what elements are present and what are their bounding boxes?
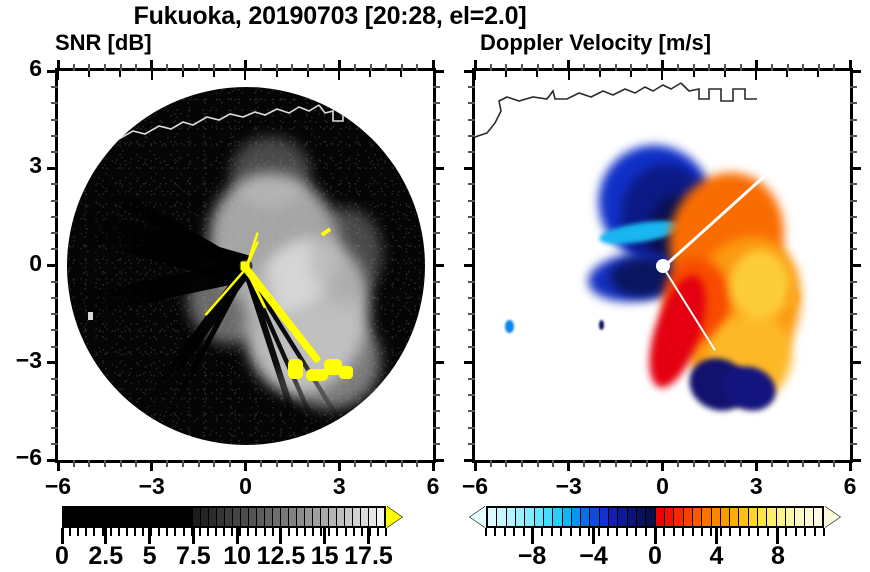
x-axis-tick xyxy=(213,460,215,467)
y-axis-tick-right xyxy=(433,394,440,396)
colorbar-cell xyxy=(144,508,152,526)
x-axis-tick-top xyxy=(755,60,758,71)
x-axis-tick-label: −3 xyxy=(539,473,599,500)
colorbar-minor-tick xyxy=(729,528,731,536)
x-axis-tick xyxy=(401,460,403,467)
colorbar-cell xyxy=(353,508,361,526)
colorbar-minor-tick xyxy=(118,528,120,536)
x-axis-tick-top xyxy=(818,64,820,71)
x-axis-tick xyxy=(802,460,804,467)
colorbar-cell xyxy=(337,508,345,526)
y-axis-tick-right xyxy=(433,151,440,153)
y-axis-tick-right xyxy=(850,378,857,380)
colorbar-minor-tick xyxy=(795,528,797,536)
colorbar-cell xyxy=(112,508,120,526)
x-axis-tick xyxy=(135,460,137,467)
y-axis-tick xyxy=(468,183,475,185)
y-axis-tick xyxy=(464,361,475,364)
colorbar-cell xyxy=(525,508,534,526)
y-axis-tick xyxy=(51,410,58,412)
colorbar-cell xyxy=(265,508,273,526)
y-axis-tick-right xyxy=(850,346,857,348)
x-axis-tick xyxy=(338,460,341,471)
doppler-colorbar[interactable]: −8−4048 xyxy=(470,506,840,528)
y-axis-tick-right xyxy=(850,361,861,364)
colorbar-minor-tick xyxy=(570,528,572,536)
colorbar-cell xyxy=(646,508,655,526)
x-axis-tick xyxy=(385,460,387,467)
colorbar-cell xyxy=(535,508,544,526)
colorbar-cell xyxy=(120,508,128,526)
x-axis-tick-label: 3 xyxy=(309,473,369,500)
x-axis-tick-label: −6 xyxy=(445,473,505,500)
colorbar-minor-tick xyxy=(377,528,379,536)
y-axis-tick-right xyxy=(433,361,444,364)
x-axis-tick xyxy=(57,460,60,471)
colorbar-cell xyxy=(289,508,297,526)
x-axis-tick xyxy=(693,460,695,467)
colorbar-minor-tick xyxy=(166,528,168,536)
x-axis-tick xyxy=(88,460,90,467)
x-axis-tick xyxy=(787,460,789,467)
y-axis-tick-right xyxy=(850,119,857,121)
colorbar-tick-label: 4 xyxy=(710,542,724,571)
colorbar-cell xyxy=(516,508,525,526)
colorbar-minor-tick xyxy=(785,528,787,536)
colorbar-minor-tick xyxy=(207,528,209,536)
y-axis-tick-right xyxy=(850,281,857,283)
y-axis-tick xyxy=(468,200,475,202)
y-axis-tick-right xyxy=(850,183,857,185)
y-axis-tick-right xyxy=(850,70,861,73)
y-axis-tick xyxy=(47,361,58,364)
colorbar-minor-tick xyxy=(385,528,387,536)
x-axis-tick-top xyxy=(490,64,492,71)
y-axis-tick xyxy=(468,378,475,380)
colorbar-cell xyxy=(767,508,776,526)
y-axis-tick-right xyxy=(850,329,857,331)
x-axis-tick xyxy=(818,460,820,467)
colorbar-minor-tick xyxy=(328,528,330,536)
colorbar-cell xyxy=(721,508,730,526)
colorbar-tick-label: −8 xyxy=(518,542,547,571)
x-axis-tick xyxy=(646,460,648,467)
colorbar-minor-tick xyxy=(255,528,257,536)
y-axis-tick xyxy=(468,410,475,412)
y-axis-tick-right xyxy=(850,135,857,137)
colorbar-cell xyxy=(684,508,693,526)
colorbar-minor-tick xyxy=(199,528,201,536)
y-axis-tick xyxy=(468,86,475,88)
x-axis-tick xyxy=(150,460,153,471)
colorbar-minor-tick xyxy=(692,528,694,536)
colorbar-minor-tick xyxy=(616,528,618,536)
colorbar-cell xyxy=(201,508,209,526)
colorbar-cell xyxy=(609,508,618,526)
colorbar-minor-tick xyxy=(353,528,355,536)
x-axis-tick xyxy=(630,460,632,467)
colorbar-cell xyxy=(88,508,96,526)
y-axis-tick xyxy=(51,135,58,137)
colorbar-minor-tick xyxy=(336,528,338,536)
colorbar-cell xyxy=(581,508,590,526)
colorbar-minor-tick xyxy=(110,528,112,536)
colorbar-minor-tick xyxy=(126,528,128,536)
y-axis-tick xyxy=(468,102,475,104)
y-axis-tick-right xyxy=(850,394,857,396)
colorbar-cell xyxy=(329,508,337,526)
colorbar-cell xyxy=(795,508,804,526)
x-axis-tick-top xyxy=(537,64,539,71)
x-axis-tick xyxy=(661,460,664,471)
y-axis-tick xyxy=(468,151,475,153)
colorbar-cell xyxy=(176,508,184,526)
snr-axis-ticks xyxy=(58,71,433,460)
x-axis-tick-top xyxy=(552,64,554,71)
y-axis-tick-right xyxy=(433,313,440,315)
colorbar-minor-tick xyxy=(312,528,314,536)
colorbar-cell xyxy=(361,508,369,526)
y-axis-tick-right xyxy=(433,216,440,218)
x-axis-tick-top xyxy=(599,64,601,71)
colorbar-minor-tick xyxy=(296,528,298,536)
y-axis-tick xyxy=(468,232,475,234)
y-axis-tick-right xyxy=(850,216,857,218)
y-axis-tick-right xyxy=(850,459,861,462)
y-axis-tick xyxy=(468,248,475,250)
colorbar-cell xyxy=(739,508,748,526)
colorbar-minor-tick xyxy=(823,528,825,536)
colorbar-cell xyxy=(786,508,795,526)
y-axis-tick xyxy=(51,443,58,445)
x-axis-tick xyxy=(724,460,726,467)
y-axis-tick xyxy=(51,427,58,429)
x-axis-tick xyxy=(370,460,372,467)
y-axis-tick-right xyxy=(433,183,440,185)
y-axis-tick-label: 6 xyxy=(0,55,42,82)
colorbar-tick-label: 5 xyxy=(143,542,157,571)
x-axis-tick-top xyxy=(693,64,695,71)
colorbar-tick-label: 7.5 xyxy=(176,542,211,571)
x-axis-tick-top xyxy=(323,64,325,71)
colorbar-minor-tick xyxy=(804,528,806,536)
y-axis-tick xyxy=(51,86,58,88)
colorbar-cell xyxy=(249,508,257,526)
radar-plot-doppler[interactable] xyxy=(472,68,853,463)
x-axis-tick xyxy=(755,460,758,471)
colorbar-minor-tick xyxy=(551,528,553,536)
x-axis-tick xyxy=(120,460,122,467)
colorbar-tick-label: 17.5 xyxy=(344,542,393,571)
colorbar-cell xyxy=(225,508,233,526)
x-axis-tick-top xyxy=(677,64,679,71)
colorbar-minor-tick xyxy=(77,528,79,536)
colorbar-cell xyxy=(777,508,786,526)
x-axis-tick-top xyxy=(505,64,507,71)
radar-plot-snr[interactable] xyxy=(55,68,436,463)
colorbar-cell xyxy=(281,508,289,526)
y-axis-tick xyxy=(51,248,58,250)
colorbar-minor-tick xyxy=(748,528,750,536)
y-axis-tick xyxy=(468,443,475,445)
colorbar-minor-tick xyxy=(158,528,160,536)
x-axis-tick xyxy=(307,460,309,467)
colorbar-cell xyxy=(572,508,581,526)
colorbar-cell xyxy=(305,508,313,526)
colorbar-minor-tick xyxy=(320,528,322,536)
colorbar-cell xyxy=(674,508,683,526)
y-axis-tick-right xyxy=(433,232,440,234)
y-axis-tick xyxy=(468,135,475,137)
x-axis-tick-label: 0 xyxy=(216,473,276,500)
colorbar-minor-tick xyxy=(272,528,274,536)
y-axis-tick-right xyxy=(433,297,440,299)
x-axis-tick-label: −3 xyxy=(122,473,182,500)
colorbar-cell xyxy=(628,508,637,526)
colorbar-cell xyxy=(152,508,160,526)
colorbar-minor-tick xyxy=(588,528,590,536)
colorbar-cell xyxy=(128,508,136,526)
colorbar-cell xyxy=(590,508,599,526)
colorbar-minor-tick xyxy=(69,528,71,536)
x-axis-tick xyxy=(474,460,477,471)
y-axis-tick-right xyxy=(433,248,440,250)
colorbar-cell xyxy=(730,508,739,526)
colorbar-minor-tick xyxy=(288,528,290,536)
y-axis-tick xyxy=(468,216,475,218)
colorbar-cell xyxy=(563,508,572,526)
colorbar-cell xyxy=(656,508,665,526)
colorbar-minor-tick xyxy=(541,528,543,536)
colorbar-minor-tick xyxy=(494,528,496,536)
doppler-colorbar-under-arrow xyxy=(470,506,486,528)
colorbar-minor-tick xyxy=(183,528,185,536)
x-axis-tick-label: 3 xyxy=(726,473,786,500)
y-axis-tick xyxy=(51,232,58,234)
y-axis-tick xyxy=(468,313,475,315)
colorbar-minor-tick xyxy=(673,528,675,536)
y-axis-tick xyxy=(51,102,58,104)
colorbar-cell xyxy=(749,508,758,526)
colorbar-minor-tick xyxy=(239,528,241,536)
y-axis-tick-right xyxy=(433,102,440,104)
x-axis-tick-top xyxy=(166,64,168,71)
colorbar-cell xyxy=(321,508,329,526)
y-axis-tick-right xyxy=(850,86,857,88)
x-axis-tick xyxy=(104,460,106,467)
x-axis-tick-top xyxy=(198,64,200,71)
colorbar-minor-tick xyxy=(264,528,266,536)
y-axis-tick-right xyxy=(850,167,861,170)
x-axis-tick xyxy=(260,460,262,467)
colorbar-cell xyxy=(497,508,506,526)
colorbar-cell xyxy=(553,508,562,526)
x-axis-tick-top xyxy=(416,64,418,71)
x-axis-tick xyxy=(182,460,184,467)
x-axis-tick-label: 0 xyxy=(633,473,693,500)
y-axis-tick-right xyxy=(433,427,440,429)
y-axis-tick xyxy=(47,264,58,267)
x-axis-tick-top xyxy=(615,64,617,71)
colorbar-minor-tick xyxy=(635,528,637,536)
x-axis-tick-top xyxy=(88,64,90,71)
y-axis-tick-right xyxy=(850,443,857,445)
colorbar-minor-tick xyxy=(767,528,769,536)
colorbar-cell xyxy=(805,508,814,526)
y-axis-tick-right xyxy=(850,232,857,234)
colorbar-minor-tick xyxy=(607,528,609,536)
y-axis-tick-right xyxy=(433,135,440,137)
y-axis-tick xyxy=(51,183,58,185)
x-axis-tick xyxy=(537,460,539,467)
colorbar-minor-tick xyxy=(513,528,515,536)
snr-plot-area xyxy=(58,71,433,460)
colorbar-tick-label: 12.5 xyxy=(257,542,306,571)
y-axis-tick-label: 3 xyxy=(0,152,42,179)
snr-colorbar-gradient xyxy=(62,506,386,528)
x-axis-tick xyxy=(166,460,168,467)
colorbar-minor-tick xyxy=(598,528,600,536)
colorbar-cell xyxy=(233,508,241,526)
colorbar-cell xyxy=(184,508,192,526)
y-axis-tick xyxy=(51,329,58,331)
colorbar-minor-tick xyxy=(579,528,581,536)
x-axis-tick-top xyxy=(740,64,742,71)
x-axis-tick xyxy=(198,460,200,467)
colorbar-cell xyxy=(377,508,384,526)
colorbar-cell xyxy=(241,508,249,526)
colorbar-minor-tick xyxy=(247,528,249,536)
x-axis-tick-top xyxy=(120,64,122,71)
x-axis-tick xyxy=(833,460,835,467)
x-axis-tick xyxy=(677,460,679,467)
y-axis-tick-right xyxy=(433,329,440,331)
x-axis-tick-label: −6 xyxy=(28,473,88,500)
y-axis-tick xyxy=(464,459,475,462)
colorbar-minor-tick xyxy=(504,528,506,536)
colorbar-cell xyxy=(160,508,168,526)
x-axis-tick xyxy=(323,460,325,467)
x-axis-tick xyxy=(771,460,773,467)
y-axis-tick-right xyxy=(433,70,444,73)
colorbar-minor-tick xyxy=(814,528,816,536)
y-axis-tick xyxy=(468,119,475,121)
colorbar-cell xyxy=(507,508,516,526)
colorbar-minor-tick xyxy=(663,528,665,536)
snr-colorbar-labels: 02.557.51012.51517.5 xyxy=(62,542,402,572)
x-axis-tick-top xyxy=(771,64,773,71)
colorbar-tick-label: 2.5 xyxy=(88,542,123,571)
colorbar-cell xyxy=(369,508,377,526)
y-axis-tick xyxy=(47,459,58,462)
colorbar-tick-label: 0 xyxy=(648,542,662,571)
y-axis-tick xyxy=(51,313,58,315)
colorbar-minor-tick xyxy=(134,528,136,536)
y-axis-tick-right xyxy=(850,151,857,153)
x-axis-tick-top xyxy=(567,60,570,71)
x-axis-tick-top xyxy=(708,64,710,71)
colorbar-minor-tick xyxy=(757,528,759,536)
y-axis-tick-right xyxy=(433,281,440,283)
y-axis-tick-right xyxy=(433,459,444,462)
colorbar-cell xyxy=(96,508,104,526)
colorbar-cell xyxy=(618,508,627,526)
colorbar-minor-tick xyxy=(215,528,217,536)
x-axis-tick-top xyxy=(370,64,372,71)
colorbar-minor-tick xyxy=(93,528,95,536)
x-axis-tick-top xyxy=(802,64,804,71)
snr-colorbar[interactable]: 02.557.51012.51517.5 xyxy=(62,506,402,528)
x-axis-tick xyxy=(567,460,570,471)
y-axis-tick xyxy=(51,216,58,218)
y-axis-tick xyxy=(51,119,58,121)
colorbar-tick-label: 0 xyxy=(55,542,69,571)
x-axis-tick-top xyxy=(521,64,523,71)
y-axis-tick xyxy=(468,329,475,331)
colorbar-cell xyxy=(297,508,305,526)
x-axis-tick xyxy=(740,460,742,467)
y-axis-tick-right xyxy=(433,264,444,267)
y-axis-tick xyxy=(468,394,475,396)
y-axis-tick-label: 0 xyxy=(0,250,42,277)
colorbar-minor-tick xyxy=(710,528,712,536)
colorbar-cell xyxy=(488,508,497,526)
doppler-axis-ticks xyxy=(475,71,850,460)
colorbar-cell xyxy=(345,508,353,526)
colorbar-minor-tick xyxy=(85,528,87,536)
colorbar-minor-tick xyxy=(231,528,233,536)
x-axis-tick-top xyxy=(213,64,215,71)
y-axis-tick-right xyxy=(433,346,440,348)
x-axis-tick-top xyxy=(104,64,106,71)
colorbar-cell xyxy=(702,508,711,526)
colorbar-cell xyxy=(64,508,72,526)
colorbar-cell xyxy=(758,508,767,526)
x-axis-tick xyxy=(432,460,435,471)
colorbar-cell xyxy=(72,508,80,526)
x-axis-tick xyxy=(708,460,710,467)
y-axis-tick xyxy=(51,378,58,380)
y-axis-tick xyxy=(51,394,58,396)
y-axis-tick-right xyxy=(433,443,440,445)
x-axis-tick xyxy=(615,460,617,467)
page-title: Fukuoka, 20190703 [20:28, el=2.0] xyxy=(0,2,660,31)
y-axis-tick-right xyxy=(850,297,857,299)
y-axis-tick-right xyxy=(433,410,440,412)
colorbar-cell xyxy=(104,508,112,526)
snr-colorbar-over-arrow xyxy=(386,506,402,528)
colorbar-minor-tick xyxy=(720,528,722,536)
colorbar-minor-tick xyxy=(102,528,104,536)
colorbar-minor-tick xyxy=(739,528,741,536)
x-axis-tick xyxy=(583,460,585,467)
x-axis-tick-top xyxy=(583,64,585,71)
colorbar-cell xyxy=(600,508,609,526)
y-axis-tick-right xyxy=(433,86,440,88)
colorbar-tick-label: 10 xyxy=(223,542,251,571)
y-axis-tick xyxy=(468,427,475,429)
x-axis-tick-top xyxy=(244,60,247,71)
colorbar-minor-tick xyxy=(304,528,306,536)
y-axis-tick-right xyxy=(850,200,857,202)
x-axis-tick xyxy=(276,460,278,467)
x-axis-tick-top xyxy=(276,64,278,71)
colorbar-cell xyxy=(209,508,217,526)
y-axis-tick-right xyxy=(433,167,444,170)
x-axis-tick xyxy=(490,460,492,467)
x-axis-tick-top xyxy=(646,64,648,71)
y-axis-tick xyxy=(51,281,58,283)
